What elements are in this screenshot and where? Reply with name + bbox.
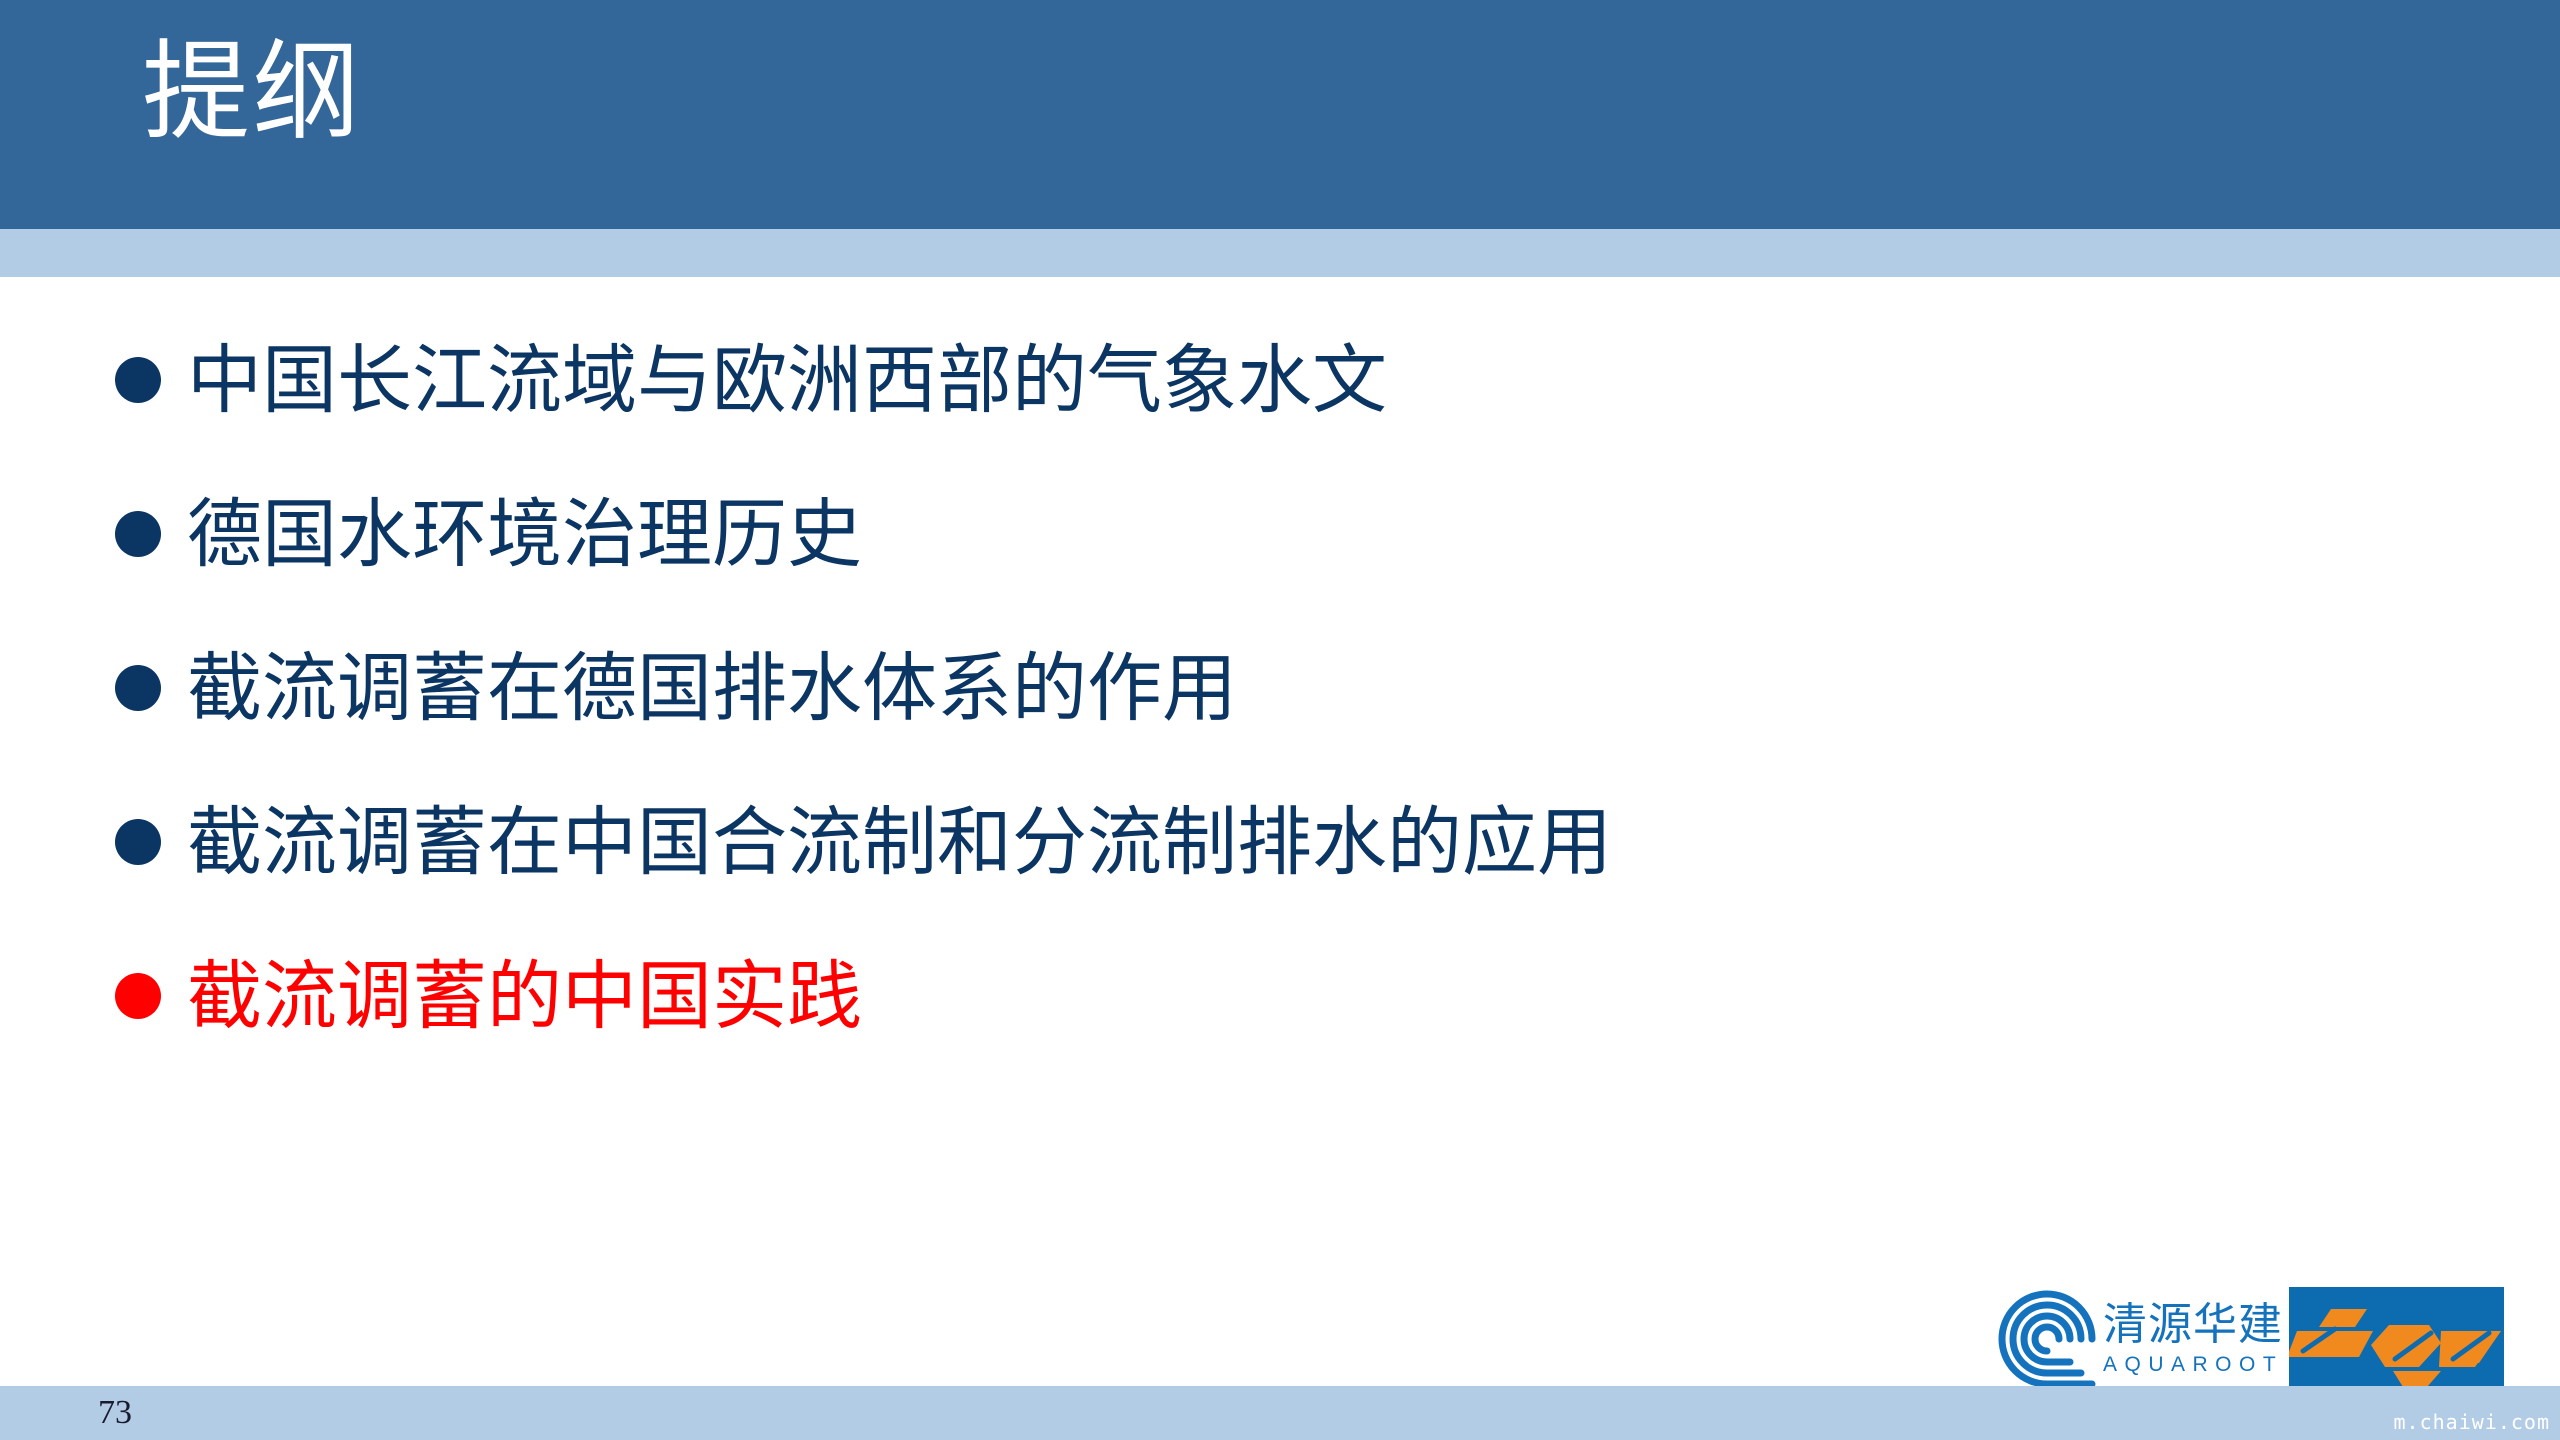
header-accent-strip [0,229,2560,277]
list-item[interactable]: 截流调蓄在中国合流制和分流制排水的应用 [0,792,2560,892]
logo-english-name: AQUAROOT [2103,1354,2283,1375]
list-item-label: 中国长江流域与欧洲西部的气象水文 [187,341,1387,420]
logo-chinese-name: 清源华建 [2103,1303,2283,1347]
list-item-label: 截流调蓄在中国合流制和分流制排水的应用 [187,803,1612,882]
header-band [0,0,2560,229]
bullet-dot-icon [115,973,161,1019]
list-item-label: 德国水环境治理历史 [187,495,862,574]
page-number: 73 [98,1394,132,1432]
slide: 提纲 中国长江流域与欧洲西部的气象水文 德国水环境治理历史 截流调蓄在德国排水体… [0,0,2560,1440]
partner-logo-glyphs [2289,1287,2504,1391]
list-item[interactable]: 中国长江流域与欧洲西部的气象水文 [0,330,2560,430]
partner-logo [2289,1287,2504,1391]
footer-band [0,1386,2560,1440]
aquaroot-wordmark: 清源华建 AQUAROOT [2103,1303,2283,1375]
list-item-label: 截流调蓄的中国实践 [187,957,862,1036]
logo-area: 清源华建 AQUAROOT [1995,1287,2504,1391]
bullet-list: 中国长江流域与欧洲西部的气象水文 德国水环境治理历史 截流调蓄在德国排水体系的作… [0,330,2560,1100]
aquaroot-spiral-mark [1995,1287,2099,1391]
list-item-label: 截流调蓄在德国排水体系的作用 [187,649,1237,728]
list-item-highlighted[interactable]: 截流调蓄的中国实践 [0,946,2560,1046]
bullet-dot-icon [115,511,161,557]
list-item[interactable]: 截流调蓄在德国排水体系的作用 [0,638,2560,738]
aquaroot-logo: 清源华建 AQUAROOT [1995,1287,2289,1391]
watermark: m.chaiwi.com [2394,1410,2551,1434]
bullet-dot-icon [115,357,161,403]
bullet-dot-icon [115,665,161,711]
page-title: 提纲 [142,28,362,158]
bullet-dot-icon [115,819,161,865]
list-item[interactable]: 德国水环境治理历史 [0,484,2560,584]
